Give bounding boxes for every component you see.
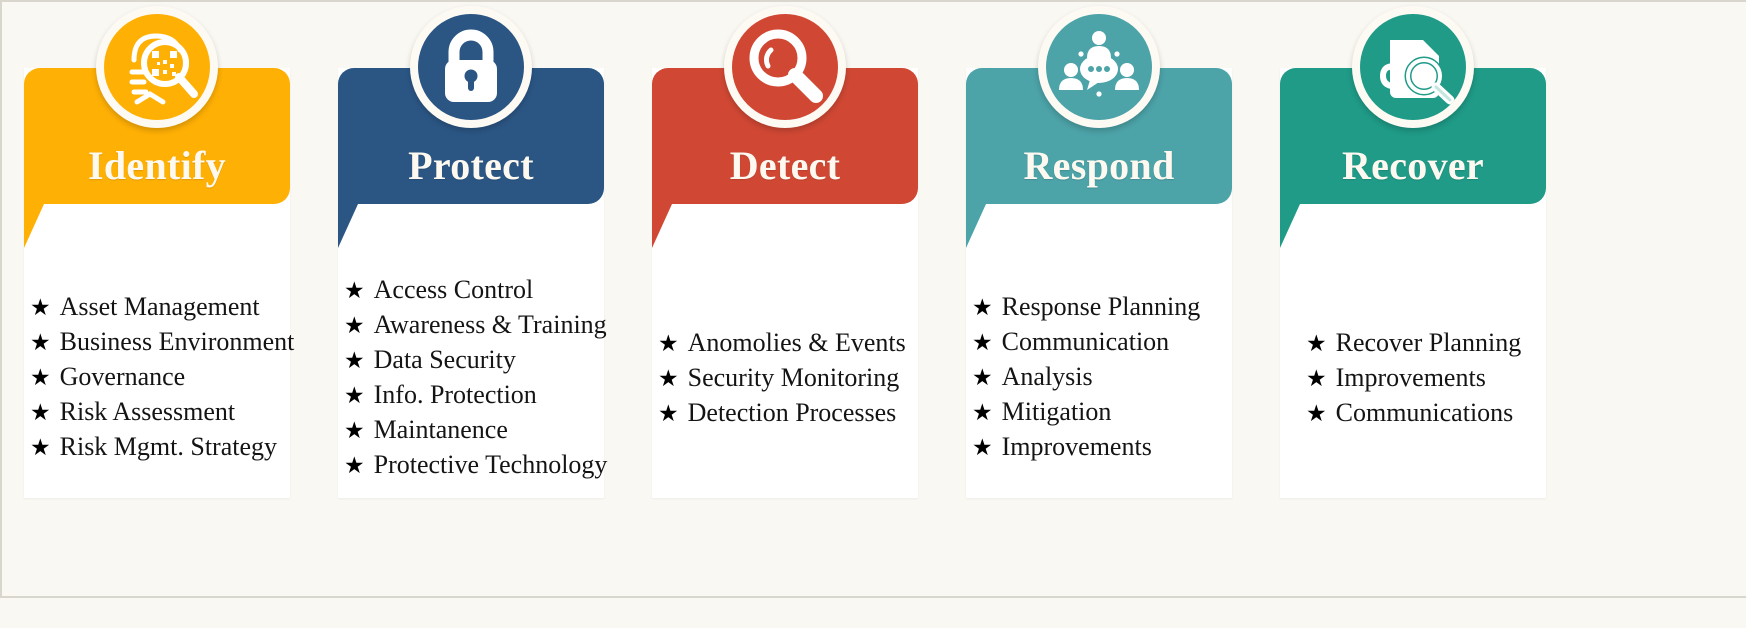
list-item-label: Risk Mgmt. Strategy bbox=[60, 430, 277, 464]
star-bullet-icon: ★ bbox=[658, 327, 679, 361]
star-bullet-icon: ★ bbox=[1306, 362, 1327, 396]
list-item: ★ Access Control bbox=[344, 273, 607, 308]
star-bullet-icon: ★ bbox=[972, 291, 993, 325]
card-detect-list: ★ Anomolies & Events ★ Security Monitori… bbox=[658, 326, 906, 431]
star-bullet-icon: ★ bbox=[30, 431, 51, 465]
frame-top-border bbox=[0, 0, 1746, 2]
list-item-label: Mitigation bbox=[1002, 395, 1112, 429]
infographic-canvas: Identify bbox=[0, 0, 1746, 628]
card-protect-banner-tail bbox=[338, 204, 358, 248]
list-item: ★ Improvements bbox=[1306, 361, 1521, 396]
card-protect-badge bbox=[410, 6, 532, 128]
star-bullet-icon: ★ bbox=[344, 449, 365, 483]
list-item-label: Access Control bbox=[374, 273, 534, 307]
fingerprint-magnifier-icon bbox=[104, 14, 210, 120]
list-item: ★ Anomolies & Events bbox=[658, 326, 906, 361]
star-bullet-icon: ★ bbox=[344, 274, 365, 308]
star-bullet-icon: ★ bbox=[658, 362, 679, 396]
star-bullet-icon: ★ bbox=[972, 326, 993, 360]
list-item: ★ Governance bbox=[30, 360, 294, 395]
list-item-label: Governance bbox=[60, 360, 186, 394]
card-respond-banner-tail bbox=[966, 204, 986, 248]
list-item-label: Info. Protection bbox=[374, 378, 537, 412]
list-item-label: Detection Processes bbox=[688, 396, 897, 430]
star-bullet-icon: ★ bbox=[972, 431, 993, 465]
list-item-label: Communication bbox=[1002, 325, 1170, 359]
card-detect-banner-tail bbox=[652, 204, 672, 248]
list-item-label: Data Security bbox=[374, 343, 516, 377]
list-item: ★ Detection Processes bbox=[658, 396, 906, 431]
list-item: ★ Maintanence bbox=[344, 413, 607, 448]
frame-left-border bbox=[0, 0, 2, 598]
card-protect-title: Protect bbox=[338, 142, 604, 189]
card-identify-banner-tail bbox=[24, 204, 44, 248]
list-item-label: Analysis bbox=[1002, 360, 1093, 394]
list-item-label: Anomolies & Events bbox=[688, 326, 906, 360]
star-bullet-icon: ★ bbox=[30, 326, 51, 360]
list-item: ★ Mitigation bbox=[972, 395, 1200, 430]
card-protect-list: ★ Access Control ★ Awareness & Training … bbox=[344, 273, 607, 483]
star-bullet-icon: ★ bbox=[1306, 327, 1327, 361]
list-item-label: Recover Planning bbox=[1336, 326, 1522, 360]
card-detect-title: Detect bbox=[652, 142, 918, 189]
list-item: ★ Communication bbox=[972, 325, 1200, 360]
magnifying-glass-icon bbox=[732, 14, 838, 120]
list-item: ★ Data Security bbox=[344, 343, 607, 378]
list-item-label: Awareness & Training bbox=[374, 308, 607, 342]
list-item: ★ Risk Assessment bbox=[30, 395, 294, 430]
card-respond-title: Respond bbox=[966, 142, 1232, 189]
list-item-label: Response Planning bbox=[1002, 290, 1201, 324]
list-item: ★ Recover Planning bbox=[1306, 326, 1521, 361]
card-respond-list: ★ Response Planning ★ Communication ★ An… bbox=[972, 290, 1200, 465]
list-item: ★ Communications bbox=[1306, 396, 1521, 431]
list-item-label: Protective Technology bbox=[374, 448, 608, 482]
list-item-label: Asset Management bbox=[60, 290, 260, 324]
card-identify-badge bbox=[96, 6, 218, 128]
list-item-label: Business Environment bbox=[60, 325, 295, 359]
padlock-icon bbox=[418, 14, 524, 120]
list-item-label: Risk Assessment bbox=[60, 395, 236, 429]
list-item: ★ Improvements bbox=[972, 430, 1200, 465]
document-restore-icon bbox=[1360, 14, 1466, 120]
star-bullet-icon: ★ bbox=[30, 361, 51, 395]
star-bullet-icon: ★ bbox=[344, 414, 365, 448]
card-recover-list: ★ Recover Planning ★ Improvements ★ Comm… bbox=[1306, 326, 1521, 431]
card-identify-list: ★ Asset Management ★ Business Environmen… bbox=[30, 290, 294, 465]
list-item: ★ Info. Protection bbox=[344, 378, 607, 413]
list-item: ★ Asset Management bbox=[30, 290, 294, 325]
star-bullet-icon: ★ bbox=[344, 309, 365, 343]
frame-bottom-border bbox=[0, 596, 1746, 598]
star-bullet-icon: ★ bbox=[1306, 397, 1327, 431]
card-recover-badge bbox=[1352, 6, 1474, 128]
list-item: ★ Analysis bbox=[972, 360, 1200, 395]
list-item-label: Improvements bbox=[1336, 361, 1486, 395]
card-detect-badge bbox=[724, 6, 846, 128]
star-bullet-icon: ★ bbox=[30, 396, 51, 430]
list-item: ★ Risk Mgmt. Strategy bbox=[30, 430, 294, 465]
star-bullet-icon: ★ bbox=[30, 291, 51, 325]
star-bullet-icon: ★ bbox=[658, 397, 679, 431]
list-item: ★ Protective Technology bbox=[344, 448, 607, 483]
team-communication-icon bbox=[1046, 14, 1152, 120]
list-item-label: Maintanence bbox=[374, 413, 508, 447]
list-item-label: Security Monitoring bbox=[688, 361, 900, 395]
star-bullet-icon: ★ bbox=[344, 379, 365, 413]
list-item: ★ Business Environment bbox=[30, 325, 294, 360]
list-item-label: Communications bbox=[1336, 396, 1514, 430]
list-item-label: Improvements bbox=[1002, 430, 1152, 464]
star-bullet-icon: ★ bbox=[972, 396, 993, 430]
card-respond-badge bbox=[1038, 6, 1160, 128]
card-recover-title: Recover bbox=[1280, 142, 1546, 189]
star-bullet-icon: ★ bbox=[344, 344, 365, 378]
list-item: ★ Security Monitoring bbox=[658, 361, 906, 396]
card-recover-banner-tail bbox=[1280, 204, 1300, 248]
star-bullet-icon: ★ bbox=[972, 361, 993, 395]
list-item: ★ Awareness & Training bbox=[344, 308, 607, 343]
card-identify-title: Identify bbox=[24, 142, 290, 189]
list-item: ★ Response Planning bbox=[972, 290, 1200, 325]
